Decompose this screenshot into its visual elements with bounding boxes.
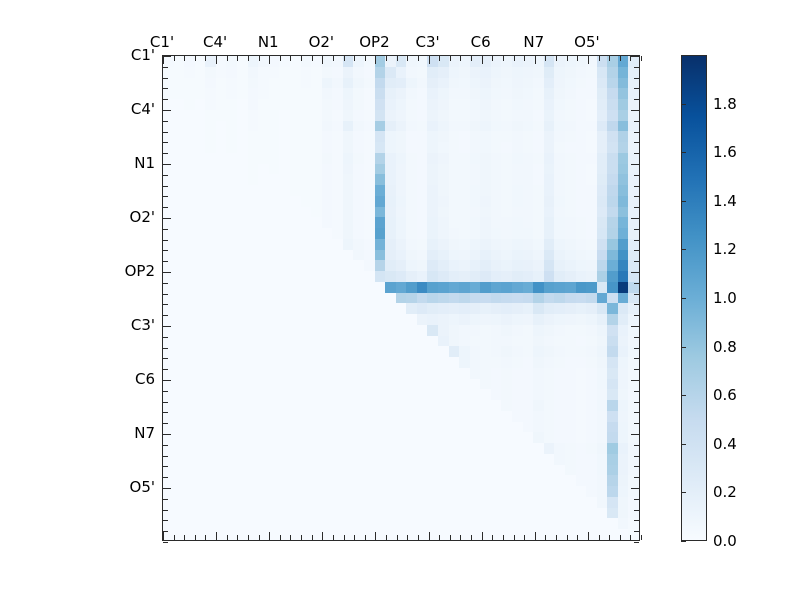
x-tick-mark xyxy=(556,56,557,61)
heatmap-cell xyxy=(501,217,512,228)
heatmap-cell xyxy=(205,131,216,142)
y-tick-mark xyxy=(634,542,639,543)
heatmap-cell xyxy=(205,497,216,508)
x-tick-mark xyxy=(344,56,345,61)
heatmap-cell xyxy=(248,475,259,486)
heatmap-cell xyxy=(322,282,333,293)
heatmap-cell xyxy=(449,78,460,89)
heatmap-cell xyxy=(597,518,608,529)
heatmap-cell xyxy=(480,443,491,454)
heatmap-cell xyxy=(237,110,248,121)
heatmap-cell xyxy=(258,303,269,314)
heatmap-cell xyxy=(459,153,470,164)
heatmap-cell xyxy=(523,422,534,433)
heatmap-cell xyxy=(438,314,449,325)
heatmap-cell xyxy=(449,250,460,261)
heatmap-cell xyxy=(184,260,195,271)
heatmap-cell xyxy=(438,443,449,454)
heatmap-cell xyxy=(322,228,333,239)
y-tick-label: C1' xyxy=(0,46,155,64)
x-tick-mark xyxy=(365,56,366,61)
heatmap-cell xyxy=(353,174,364,185)
heatmap-cell xyxy=(248,357,259,368)
heatmap-cell xyxy=(417,78,428,89)
y-tick-mark xyxy=(634,337,639,338)
heatmap-cell xyxy=(576,78,587,89)
heatmap-cell xyxy=(533,88,544,99)
heatmap-cell xyxy=(607,336,618,347)
heatmap-cell xyxy=(618,443,629,454)
heatmap-cell xyxy=(385,228,396,239)
x-tick-mark xyxy=(429,532,430,540)
x-tick-mark xyxy=(524,56,525,61)
heatmap-cell xyxy=(353,196,364,207)
heatmap-cell xyxy=(523,153,534,164)
heatmap-cell xyxy=(279,131,290,142)
heatmap-cell xyxy=(279,497,290,508)
heatmap-cell xyxy=(279,88,290,99)
heatmap-cell xyxy=(163,99,174,110)
heatmap-cell xyxy=(491,228,502,239)
heatmap-cell xyxy=(385,465,396,476)
heatmap-cell xyxy=(385,336,396,347)
heatmap-cell xyxy=(470,196,481,207)
heatmap-cell xyxy=(523,78,534,89)
heatmap-cell xyxy=(628,110,639,121)
heatmap-cell xyxy=(586,368,597,379)
heatmap-cell xyxy=(332,486,343,497)
heatmap-cell xyxy=(216,529,227,540)
y-tick-mark xyxy=(631,164,639,165)
heatmap-cell xyxy=(544,293,555,304)
heatmap-cell xyxy=(290,271,301,282)
heatmap-cell xyxy=(353,228,364,239)
heatmap-cell xyxy=(523,400,534,411)
heatmap-cell xyxy=(226,400,237,411)
heatmap-cell xyxy=(586,110,597,121)
heatmap-cell xyxy=(576,185,587,196)
heatmap-cell xyxy=(607,78,618,89)
heatmap-cell xyxy=(279,78,290,89)
colorbar-tick-mark xyxy=(681,104,686,105)
heatmap-cell xyxy=(248,529,259,540)
heatmap-cell xyxy=(195,314,206,325)
heatmap-cell xyxy=(470,260,481,271)
heatmap-cell xyxy=(576,465,587,476)
heatmap-cell xyxy=(586,260,597,271)
heatmap-cell xyxy=(491,475,502,486)
heatmap-cell xyxy=(258,400,269,411)
heatmap-cell xyxy=(353,185,364,196)
heatmap-cell xyxy=(406,99,417,110)
heatmap-cell xyxy=(226,196,237,207)
heatmap-cell xyxy=(322,153,333,164)
heatmap-cell xyxy=(597,142,608,153)
heatmap-cell xyxy=(480,260,491,271)
heatmap-cell xyxy=(554,78,565,89)
heatmap-cell xyxy=(576,303,587,314)
heatmap-cell xyxy=(332,99,343,110)
heatmap-cell xyxy=(343,443,354,454)
heatmap-cell xyxy=(586,325,597,336)
heatmap-cell xyxy=(375,78,386,89)
heatmap-cell xyxy=(533,508,544,519)
heatmap-cell xyxy=(279,346,290,357)
heatmap-cell xyxy=(258,454,269,465)
heatmap-cell xyxy=(427,314,438,325)
heatmap-cell xyxy=(248,271,259,282)
heatmap-cell xyxy=(597,443,608,454)
heatmap-cell xyxy=(470,239,481,250)
heatmap-cell xyxy=(290,88,301,99)
heatmap-cell xyxy=(216,250,227,261)
heatmap-axes[interactable] xyxy=(162,55,640,541)
heatmap-cell xyxy=(491,217,502,228)
heatmap-cell xyxy=(533,475,544,486)
heatmap-cell xyxy=(237,239,248,250)
heatmap-cell xyxy=(269,67,280,78)
heatmap-cell xyxy=(290,99,301,110)
heatmap-cell xyxy=(618,282,629,293)
heatmap-cell xyxy=(512,400,523,411)
heatmap-cell xyxy=(195,185,206,196)
heatmap-cell xyxy=(501,368,512,379)
x-tick-mark xyxy=(471,56,472,61)
heatmap-cell xyxy=(427,164,438,175)
heatmap-cell xyxy=(628,121,639,132)
heatmap-cell xyxy=(406,411,417,422)
heatmap-cell xyxy=(279,196,290,207)
heatmap-cell xyxy=(618,260,629,271)
heatmap-cell xyxy=(184,99,195,110)
heatmap-cell xyxy=(205,400,216,411)
heatmap-cell xyxy=(385,303,396,314)
y-tick-mark xyxy=(163,348,168,349)
heatmap-cell xyxy=(364,88,375,99)
heatmap-cell xyxy=(396,142,407,153)
heatmap-cell xyxy=(618,400,629,411)
heatmap-cell xyxy=(618,88,629,99)
heatmap-cell xyxy=(311,303,322,314)
heatmap-cell xyxy=(269,346,280,357)
heatmap-cell xyxy=(512,465,523,476)
heatmap-cell xyxy=(470,228,481,239)
heatmap-cell xyxy=(512,293,523,304)
y-tick-label: O5' xyxy=(0,478,155,496)
heatmap-cell xyxy=(512,475,523,486)
heatmap-cell xyxy=(470,282,481,293)
heatmap-cell xyxy=(226,228,237,239)
heatmap-cell xyxy=(301,217,312,228)
heatmap-cell xyxy=(343,400,354,411)
heatmap-cell xyxy=(195,196,206,207)
heatmap-cell xyxy=(174,508,185,519)
heatmap-cell xyxy=(226,217,237,228)
heatmap-cell xyxy=(544,260,555,271)
heatmap-cell xyxy=(174,497,185,508)
y-tick-mark xyxy=(163,121,168,122)
heatmap-cell xyxy=(301,185,312,196)
heatmap-cell xyxy=(385,518,396,529)
heatmap-cell xyxy=(607,217,618,228)
heatmap-cell xyxy=(544,99,555,110)
heatmap-cell xyxy=(237,389,248,400)
x-tick-mark xyxy=(439,56,440,61)
heatmap-cell xyxy=(501,465,512,476)
heatmap-cell xyxy=(322,271,333,282)
x-tick-mark xyxy=(471,535,472,540)
heatmap-cell xyxy=(470,217,481,228)
heatmap-cell xyxy=(618,142,629,153)
heatmap-cell xyxy=(353,486,364,497)
heatmap-cell xyxy=(290,475,301,486)
heatmap-cell xyxy=(375,432,386,443)
heatmap-cell xyxy=(449,486,460,497)
heatmap-cell xyxy=(565,454,576,465)
heatmap-cell xyxy=(512,508,523,519)
heatmap-cell xyxy=(216,207,227,218)
heatmap-cell xyxy=(576,164,587,175)
heatmap-cell xyxy=(512,217,523,228)
heatmap-cell xyxy=(375,400,386,411)
heatmap-cell xyxy=(396,411,407,422)
heatmap-cell xyxy=(258,217,269,228)
heatmap-cell xyxy=(216,432,227,443)
heatmap-cell xyxy=(523,196,534,207)
heatmap-cell xyxy=(301,207,312,218)
heatmap-cell xyxy=(459,465,470,476)
heatmap-cell xyxy=(353,260,364,271)
y-tick-mark xyxy=(163,434,171,435)
heatmap-cell xyxy=(269,78,280,89)
heatmap-cell xyxy=(226,78,237,89)
heatmap-cell xyxy=(396,314,407,325)
heatmap-cell xyxy=(480,400,491,411)
heatmap-cell xyxy=(290,250,301,261)
heatmap-cell xyxy=(195,454,206,465)
x-tick-mark xyxy=(641,56,642,61)
heatmap-cell xyxy=(269,121,280,132)
heatmap-cell xyxy=(364,260,375,271)
heatmap-cell xyxy=(449,217,460,228)
heatmap-cell xyxy=(607,271,618,282)
heatmap-cell xyxy=(459,239,470,250)
heatmap-cell xyxy=(565,422,576,433)
heatmap-cell xyxy=(576,508,587,519)
colorbar[interactable]: 0.00.20.40.60.81.01.21.41.61.8 xyxy=(681,55,707,541)
heatmap-cell xyxy=(343,508,354,519)
heatmap-cell xyxy=(406,196,417,207)
heatmap-cell xyxy=(607,303,618,314)
heatmap-cell xyxy=(533,228,544,239)
heatmap-cell xyxy=(576,346,587,357)
heatmap-cell xyxy=(258,88,269,99)
heatmap-cell xyxy=(258,486,269,497)
heatmap-cell xyxy=(480,282,491,293)
heatmap-cell xyxy=(343,293,354,304)
colorbar-tick-mark xyxy=(681,444,686,445)
heatmap-cell xyxy=(353,153,364,164)
colorbar-tick-mark xyxy=(681,249,686,250)
heatmap-cell xyxy=(607,282,618,293)
heatmap-cell xyxy=(470,389,481,400)
heatmap-cell xyxy=(544,239,555,250)
heatmap-cell xyxy=(449,293,460,304)
heatmap-cell xyxy=(163,174,174,185)
heatmap-cell xyxy=(417,121,428,132)
y-tick-mark xyxy=(634,261,639,262)
heatmap-cell xyxy=(174,454,185,465)
heatmap-cell xyxy=(565,443,576,454)
heatmap-cell xyxy=(544,346,555,357)
heatmap-cell xyxy=(353,88,364,99)
heatmap-cell xyxy=(184,185,195,196)
heatmap-cell xyxy=(163,56,174,67)
heatmap-cell xyxy=(533,271,544,282)
heatmap-cell xyxy=(459,379,470,390)
heatmap-cell xyxy=(364,411,375,422)
heatmap-cell xyxy=(480,508,491,519)
heatmap-cell xyxy=(427,454,438,465)
heatmap-cell xyxy=(269,260,280,271)
heatmap-cell xyxy=(216,121,227,132)
heatmap-cell xyxy=(322,196,333,207)
heatmap-cell xyxy=(396,196,407,207)
heatmap-cell xyxy=(216,465,227,476)
x-tick-label: C6 xyxy=(471,33,491,51)
heatmap-cell xyxy=(174,422,185,433)
heatmap-cell xyxy=(195,325,206,336)
y-tick-mark xyxy=(163,142,168,143)
heatmap-cell xyxy=(427,78,438,89)
heatmap-cell xyxy=(364,164,375,175)
heatmap-cell xyxy=(311,475,322,486)
heatmap-cell xyxy=(301,314,312,325)
heatmap-cell xyxy=(269,207,280,218)
heatmap-cell xyxy=(269,465,280,476)
heatmap-cell xyxy=(364,508,375,519)
heatmap-cell xyxy=(248,379,259,390)
heatmap-cell xyxy=(174,196,185,207)
heatmap-cell xyxy=(322,465,333,476)
heatmap-cell xyxy=(449,121,460,132)
heatmap-cell xyxy=(226,518,237,529)
heatmap-cell xyxy=(375,121,386,132)
heatmap-cell xyxy=(248,99,259,110)
heatmap-cell xyxy=(491,400,502,411)
heatmap-cell xyxy=(459,357,470,368)
heatmap-cell xyxy=(512,228,523,239)
heatmap-cell xyxy=(438,185,449,196)
heatmap-cell xyxy=(332,422,343,433)
heatmap-cell xyxy=(290,454,301,465)
y-tick-mark xyxy=(163,542,168,543)
heatmap-cell xyxy=(237,454,248,465)
heatmap-cell xyxy=(396,475,407,486)
heatmap-cell xyxy=(618,486,629,497)
heatmap-cell xyxy=(607,228,618,239)
heatmap-cell xyxy=(491,260,502,271)
heatmap-cell xyxy=(226,497,237,508)
heatmap-cell xyxy=(375,260,386,271)
heatmap-cell xyxy=(226,110,237,121)
heatmap-cell xyxy=(586,303,597,314)
x-tick-mark xyxy=(290,56,291,61)
heatmap-cell xyxy=(248,228,259,239)
heatmap-cell xyxy=(216,78,227,89)
heatmap-cell xyxy=(195,443,206,454)
heatmap-cell xyxy=(523,411,534,422)
y-tick-mark xyxy=(634,142,639,143)
heatmap-cell xyxy=(533,217,544,228)
heatmap-cell xyxy=(417,325,428,336)
heatmap-cell xyxy=(618,475,629,486)
x-tick-label: O2' xyxy=(309,33,334,51)
heatmap-cell xyxy=(258,78,269,89)
heatmap-cell xyxy=(301,250,312,261)
heatmap-cell xyxy=(205,153,216,164)
heatmap-cell xyxy=(459,217,470,228)
heatmap-cell xyxy=(237,368,248,379)
heatmap-cell xyxy=(427,110,438,121)
heatmap-cell xyxy=(438,228,449,239)
x-tick-mark xyxy=(269,532,270,540)
heatmap-cell xyxy=(364,336,375,347)
y-tick-mark xyxy=(163,218,171,219)
heatmap-cell xyxy=(491,325,502,336)
heatmap-cell xyxy=(417,518,428,529)
heatmap-cell xyxy=(269,239,280,250)
heatmap-cell xyxy=(290,185,301,196)
heatmap-cell xyxy=(195,379,206,390)
heatmap-cell xyxy=(195,475,206,486)
heatmap-cell xyxy=(607,411,618,422)
heatmap-cell xyxy=(480,153,491,164)
heatmap-cell xyxy=(290,497,301,508)
heatmap-cell xyxy=(375,389,386,400)
heatmap-cell xyxy=(533,67,544,78)
heatmap-cell xyxy=(554,67,565,78)
x-tick-mark xyxy=(599,535,600,540)
heatmap-cell xyxy=(470,422,481,433)
heatmap-cell xyxy=(427,475,438,486)
heatmap-cell xyxy=(628,78,639,89)
x-tick-mark xyxy=(407,535,408,540)
heatmap-cell xyxy=(597,346,608,357)
heatmap-cell xyxy=(248,518,259,529)
heatmap-cell xyxy=(226,368,237,379)
y-tick-mark xyxy=(634,229,639,230)
heatmap-cell xyxy=(396,131,407,142)
heatmap-cell xyxy=(322,131,333,142)
heatmap-cell xyxy=(343,411,354,422)
heatmap-cell xyxy=(554,336,565,347)
heatmap-cell xyxy=(576,196,587,207)
heatmap-cell xyxy=(343,422,354,433)
heatmap-cell xyxy=(618,432,629,443)
heatmap-cell xyxy=(301,67,312,78)
heatmap-cell xyxy=(501,346,512,357)
heatmap-cell xyxy=(618,78,629,89)
heatmap-cell xyxy=(597,368,608,379)
heatmap-cell xyxy=(311,432,322,443)
heatmap-cell xyxy=(385,260,396,271)
heatmap-cell xyxy=(607,207,618,218)
heatmap-cell xyxy=(269,174,280,185)
heatmap-cell xyxy=(195,282,206,293)
heatmap-cell xyxy=(385,325,396,336)
heatmap-cell xyxy=(480,67,491,78)
